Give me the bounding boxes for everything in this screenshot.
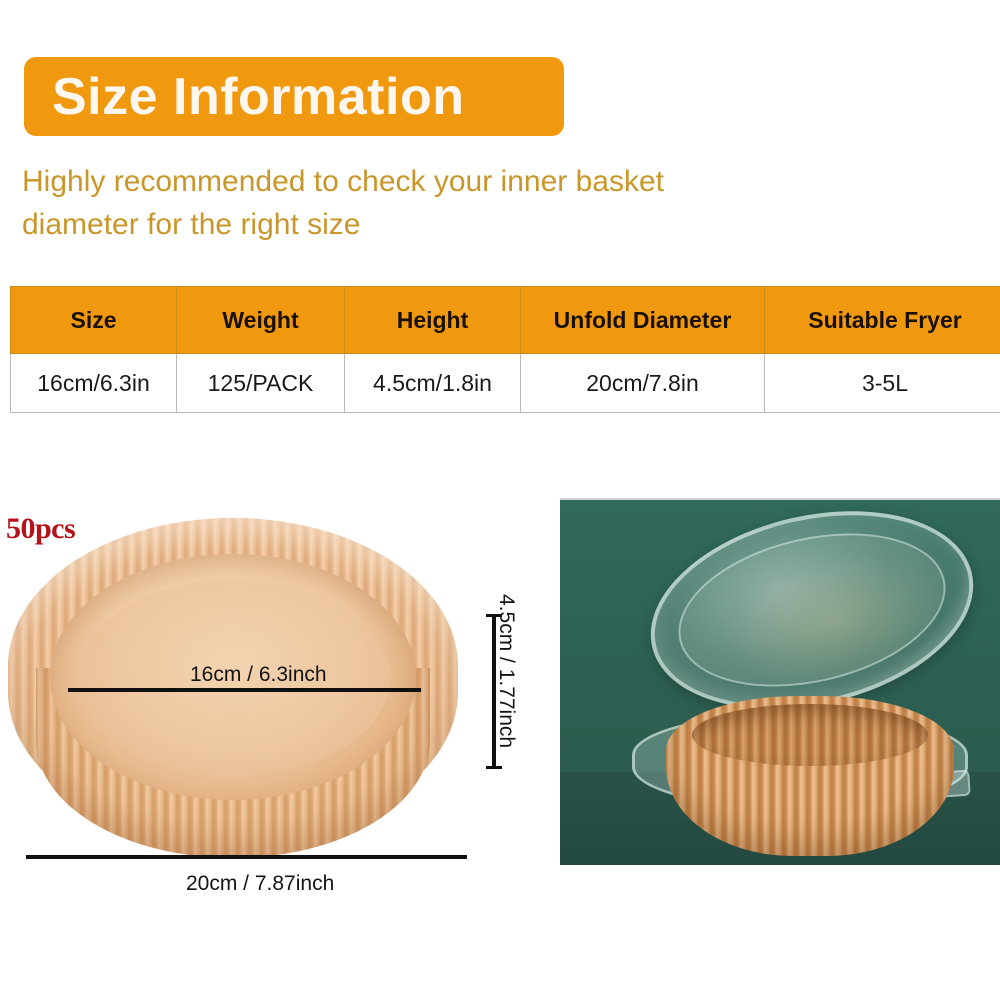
inner-diameter-measure-line xyxy=(68,688,421,692)
quantity-badge: 50pcs xyxy=(6,512,75,546)
column-header-suitable-fryer: Suitable Fryer xyxy=(765,287,1000,354)
subtitle-text: Highly recommended to check your inner b… xyxy=(22,160,742,246)
liner-opening xyxy=(692,704,928,766)
column-header-height: Height xyxy=(345,287,521,354)
spec-table: Size Weight Height Unfold Diameter Suita… xyxy=(10,286,1000,413)
inner-diameter-label: 16cm / 6.3inch xyxy=(190,663,327,687)
cell-unfold-diameter: 20cm/7.8in xyxy=(521,354,765,413)
column-header-weight: Weight xyxy=(177,287,345,354)
table-header-row: Size Weight Height Unfold Diameter Suita… xyxy=(11,287,1000,354)
height-label: 4.5cm / 1.77inch xyxy=(494,594,518,744)
table-row: 16cm/6.3in 125/PACK 4.5cm/1.8in 20cm/7.8… xyxy=(11,354,1000,413)
page-title-badge: Size Information xyxy=(24,57,564,136)
column-header-size: Size xyxy=(11,287,177,354)
height-measure-tick-bottom xyxy=(486,766,502,769)
column-header-unfold-diameter: Unfold Diameter xyxy=(521,287,765,354)
page-title: Size Information xyxy=(52,71,464,123)
outer-diameter-measure-line xyxy=(26,855,467,859)
cell-suitable-fryer: 3-5L xyxy=(765,354,1000,413)
product-photo-liner-with-lid xyxy=(560,500,1000,865)
cell-height: 4.5cm/1.8in xyxy=(345,354,521,413)
cell-weight: 125/PACK xyxy=(177,354,345,413)
cell-size: 16cm/6.3in xyxy=(11,354,177,413)
outer-diameter-label: 20cm / 7.87inch xyxy=(186,872,334,896)
paper-liner-in-tray xyxy=(666,696,954,856)
